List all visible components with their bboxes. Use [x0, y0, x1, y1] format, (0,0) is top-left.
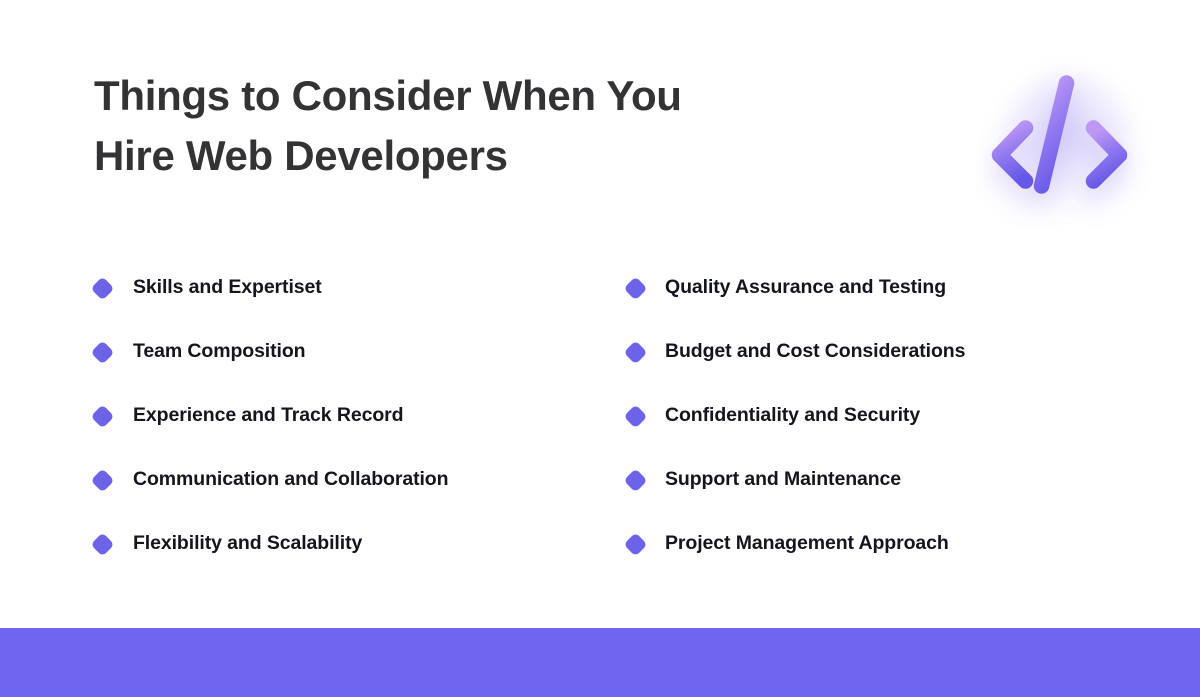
list-item-label: Communication and Collaboration — [133, 470, 448, 490]
list-item[interactable]: Communication and Collaboration — [94, 448, 614, 512]
footer-accent-bar — [0, 628, 1200, 697]
list-item-label: Team Composition — [133, 342, 305, 362]
slide-canvas: Things to Consider When You Hire Web Dev… — [0, 0, 1200, 697]
diamond-bullet-icon — [90, 468, 114, 492]
diamond-bullet-icon — [623, 468, 647, 492]
diamond-bullet-icon — [90, 404, 114, 428]
list-item[interactable]: Budget and Cost Considerations — [627, 320, 1167, 384]
list-item-label: Confidentiality and Security — [665, 406, 920, 426]
list-item-label: Flexibility and Scalability — [133, 534, 362, 554]
list-item[interactable]: Confidentiality and Security — [627, 384, 1167, 448]
page-title-line-1: Things to Consider When You — [94, 66, 794, 126]
list-item[interactable]: Team Composition — [94, 320, 614, 384]
list-item-label: Quality Assurance and Testing — [665, 278, 946, 298]
code-brackets-icon — [975, 50, 1155, 230]
diamond-bullet-icon — [623, 340, 647, 364]
diamond-bullet-icon — [90, 276, 114, 300]
list-item-label: Experience and Track Record — [133, 406, 403, 426]
diamond-bullet-icon — [90, 340, 114, 364]
list-item[interactable]: Support and Maintenance — [627, 448, 1167, 512]
list-item-label: Project Management Approach — [665, 534, 949, 554]
diamond-bullet-icon — [90, 532, 114, 556]
list-column-right: Quality Assurance and Testing Budget and… — [627, 256, 1167, 576]
considerations-list: Skills and Expertiset Team Composition E… — [0, 256, 1200, 586]
diamond-bullet-icon — [623, 532, 647, 556]
diamond-bullet-icon — [623, 276, 647, 300]
list-item-label: Support and Maintenance — [665, 470, 901, 490]
page-title-line-2: Hire Web Developers — [94, 126, 794, 186]
list-item[interactable]: Flexibility and Scalability — [94, 512, 614, 576]
list-item-label: Budget and Cost Considerations — [665, 342, 965, 362]
list-column-left: Skills and Expertiset Team Composition E… — [94, 256, 614, 576]
code-brackets-icon-svg — [975, 50, 1155, 230]
list-item[interactable]: Skills and Expertiset — [94, 256, 614, 320]
list-item[interactable]: Experience and Track Record — [94, 384, 614, 448]
list-item-label: Skills and Expertiset — [133, 278, 322, 298]
diamond-bullet-icon — [623, 404, 647, 428]
list-item[interactable]: Project Management Approach — [627, 512, 1167, 576]
page-title: Things to Consider When You Hire Web Dev… — [94, 66, 794, 186]
list-item[interactable]: Quality Assurance and Testing — [627, 256, 1167, 320]
